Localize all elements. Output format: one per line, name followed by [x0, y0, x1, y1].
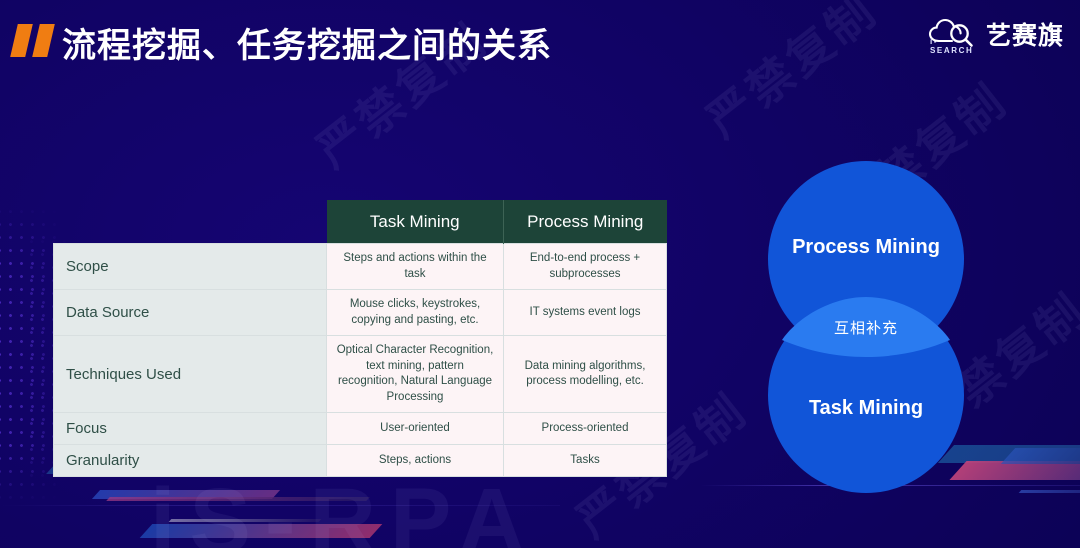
slide-canvas: 严禁复制 严禁复制 严禁复制 严禁复制 严禁复制 严禁复制 严禁复制 iS-RP… [0, 0, 1080, 548]
slide-header: 流程挖掘、任务挖掘之间的关系 i-SEARCH 艺赛旗 [0, 0, 1080, 86]
venn-diagram: Process Mining Task Mining 互相补充 [763, 161, 969, 493]
row-label: Techniques Used [54, 336, 327, 413]
venn-label-process-mining: Process Mining [792, 236, 940, 259]
decorative-streak-left-2 [92, 490, 280, 499]
cell-task-mining: Steps and actions within the task [327, 244, 504, 290]
table-row: Scope Steps and actions within the task … [54, 244, 667, 290]
table-header-task-mining: Task Mining [327, 200, 504, 244]
cloud-magnifier-icon: i-SEARCH [926, 14, 978, 54]
cell-process-mining: Tasks [504, 445, 667, 477]
table-body: Scope Steps and actions within the task … [54, 244, 667, 477]
row-label: Focus [54, 413, 327, 445]
cell-process-mining: Data mining algorithms, process modellin… [504, 336, 667, 413]
decorative-hairline-2 [0, 505, 560, 506]
row-label: Scope [54, 244, 327, 290]
cell-task-mining: Steps, actions [327, 445, 504, 477]
decorative-streak-right-4 [1019, 490, 1080, 493]
decorative-streak-left-5 [169, 519, 322, 522]
bottom-wordmark: iS-RPA [150, 469, 539, 548]
row-label: Data Source [54, 290, 327, 336]
logo-subtext: i-SEARCH [930, 37, 978, 55]
decorative-streak-left-3 [140, 524, 383, 538]
table-header-row: Task Mining Process Mining [54, 200, 667, 244]
logo-brand-name: 艺赛旗 [986, 16, 1064, 52]
venn-label-task-mining: Task Mining [809, 397, 923, 420]
decorative-streak-left-4 [106, 497, 370, 501]
decorative-streak-right-3 [1001, 448, 1080, 464]
decorative-streak-right-2 [949, 461, 1080, 480]
table-row: Data Source Mouse clicks, keystrokes, co… [54, 290, 667, 336]
page-title: 流程挖掘、任务挖掘之间的关系 [62, 18, 552, 67]
comparison-table-wrapper: Task Mining Process Mining Scope Steps a… [53, 200, 666, 477]
venn-intersection: 互相补充 [768, 297, 964, 357]
cell-process-mining: Process-oriented [504, 413, 667, 445]
cell-task-mining: Optical Character Recognition, text mini… [327, 336, 504, 413]
row-label: Granularity [54, 445, 327, 477]
table-header-process-mining: Process Mining [504, 200, 667, 244]
table-row: Techniques Used Optical Character Recogn… [54, 336, 667, 413]
table-row: Granularity Steps, actions Tasks [54, 445, 667, 477]
table-row: Focus User-oriented Process-oriented [54, 413, 667, 445]
accent-quote-icon [14, 24, 51, 57]
cell-task-mining: User-oriented [327, 413, 504, 445]
cell-task-mining: Mouse clicks, keystrokes, copying and pa… [327, 290, 504, 336]
venn-intersection-label: 互相补充 [834, 317, 898, 338]
cell-process-mining: End-to-end process + subprocesses [504, 244, 667, 290]
cell-process-mining: IT systems event logs [504, 290, 667, 336]
brand-logo: i-SEARCH 艺赛旗 [926, 14, 1064, 54]
comparison-table: Task Mining Process Mining Scope Steps a… [53, 200, 667, 477]
table-header-blank [54, 200, 327, 244]
